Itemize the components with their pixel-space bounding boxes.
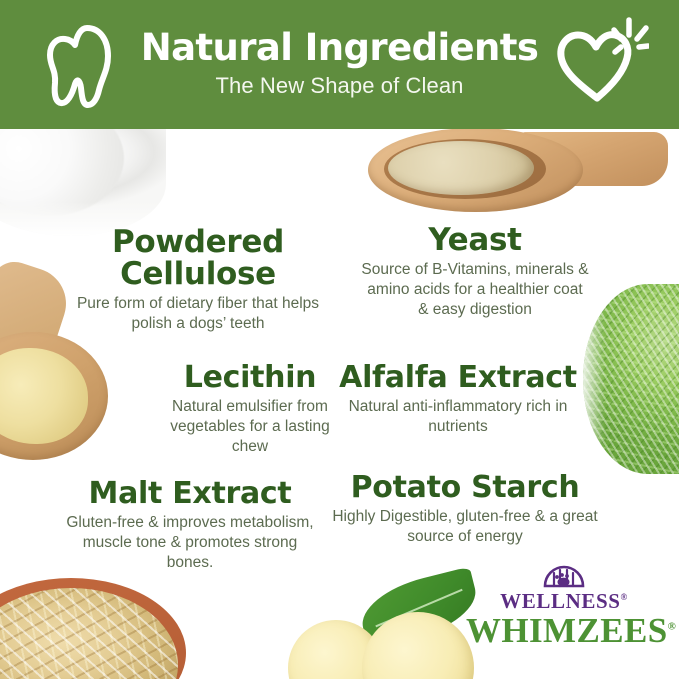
ingredient-card-potato-starch: Potato Starch Highly Digestible, gluten-… xyxy=(330,472,600,547)
photo-alfalfa-sprouts xyxy=(583,284,679,474)
ingredient-description: Natural anti-inflammatory rich in nutrie… xyxy=(332,397,584,437)
brand-wellness-text: WELLNESS xyxy=(500,589,620,613)
brand-logo: WELLNESS® WHIMZEES® xyxy=(466,562,662,650)
page-subtitle: The New Shape of Clean xyxy=(141,75,539,97)
ingredient-name: Lecithin xyxy=(152,362,348,393)
ingredient-name: Malt Extract xyxy=(66,478,314,509)
brand-wellness-registered: ® xyxy=(621,592,628,602)
yeast-granules xyxy=(388,141,534,195)
sparkle-rays xyxy=(614,20,648,52)
ingredient-name: Potato Starch xyxy=(330,472,600,503)
ingredient-name: Powdered Cellulose xyxy=(74,226,322,290)
sun-paw-icon xyxy=(542,562,586,588)
page-title: Natural Ingredients xyxy=(141,29,539,66)
infographic-page: Natural Ingredients The New Shape of Cle… xyxy=(0,0,679,679)
photo-white-powder-bowl xyxy=(0,126,166,236)
brand-whimzees-text: WHIMZEES xyxy=(466,611,668,650)
photo-barley-grain-bowl xyxy=(0,578,186,679)
ingredient-card-malt-extract: Malt Extract Gluten-free & improves meta… xyxy=(66,478,314,573)
photo-potato-slices xyxy=(268,592,488,679)
ingredient-card-yeast: Yeast Source of B-Vitamins, minerals & a… xyxy=(360,224,590,320)
ingredient-description: Pure form of dietary fiber that helps po… xyxy=(74,294,322,334)
ingredient-card-alfalfa-extract: Alfalfa Extract Natural anti-inflammator… xyxy=(332,362,584,437)
ingredient-card-powdered-cellulose: Powdered Cellulose Pure form of dietary … xyxy=(74,226,322,334)
brand-whimzees-registered: ® xyxy=(668,620,677,632)
ingredient-description: Gluten-free & improves metabolism, muscl… xyxy=(66,513,314,572)
ingredient-description: Source of B-Vitamins, minerals & amino a… xyxy=(360,260,590,319)
ingredient-description: Natural emulsifier from vegetables for a… xyxy=(152,397,348,456)
ingredient-description: Highly Digestible, gluten-free & a great… xyxy=(330,507,600,547)
brand-whimzees-wordmark: WHIMZEES® xyxy=(466,613,662,650)
ingredient-name: Yeast xyxy=(360,224,590,256)
ingredient-card-lecithin: Lecithin Natural emulsifier from vegetab… xyxy=(152,362,348,457)
header-banner: Natural Ingredients The New Shape of Cle… xyxy=(0,0,679,129)
heart-sparkle-icon xyxy=(549,14,649,114)
ingredient-name: Alfalfa Extract xyxy=(332,362,584,393)
photo-wooden-scoop-yeast xyxy=(368,128,668,214)
